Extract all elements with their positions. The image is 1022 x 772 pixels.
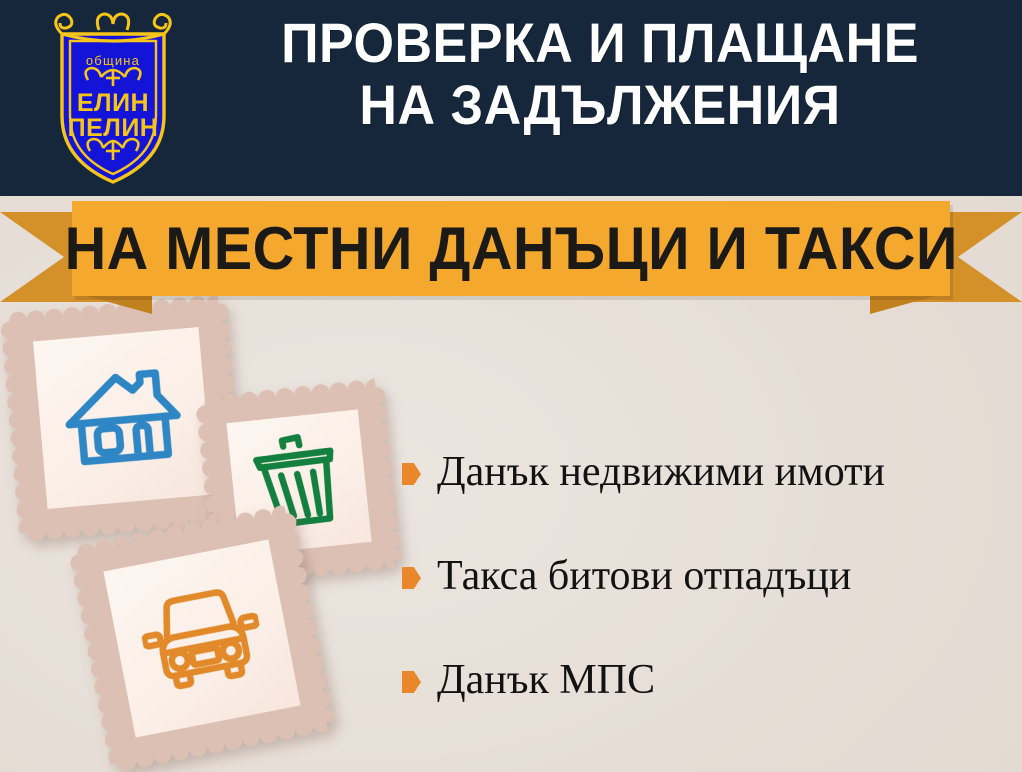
header-banner: община ЕЛИН ПЕЛИН (0, 0, 1022, 196)
list-item-label: Такса битови отпадъци (437, 554, 851, 598)
page-title-line-1: ПРОВЕРКА И ПЛАЩАНЕ (219, 16, 982, 70)
logo-line-main-1: ЕЛИН (77, 89, 149, 117)
list-item[interactable]: Данък недвижими имоти (402, 420, 1012, 524)
list-item-label: Данък МПС (437, 658, 655, 702)
arrow-right-bullet-icon (402, 567, 421, 589)
page-title: ПРОВЕРКА И ПЛАЩАНЕ НА ЗАДЪЛЖЕНИЯ (190, 16, 1010, 132)
arrow-right-bullet-icon (402, 671, 421, 693)
stamp-perforation-right (367, 387, 403, 561)
house-icon (58, 358, 187, 477)
car-front-icon (134, 576, 270, 702)
stamp-card-vehicle-tax (78, 514, 327, 764)
stamp-paper (33, 327, 213, 509)
list-item[interactable]: Данък МПС (402, 628, 1012, 732)
ribbon-label: НА МЕСТНИ ДАНЪЦИ И ТАКСИ (64, 219, 957, 279)
ribbon-band: НА МЕСТНИ ДАНЪЦИ И ТАКСИ (72, 201, 950, 296)
arrow-right-bullet-icon (402, 463, 421, 485)
list-item[interactable]: Такса битови отпадъци (402, 524, 1012, 628)
stamp-paper (103, 540, 300, 738)
subtitle-ribbon: НА МЕСТНИ ДАНЪЦИ И ТАКСИ (0, 196, 1022, 308)
logo-line-main-2: ПЕЛИН (68, 114, 159, 142)
stamp-perforation-left (0, 321, 36, 534)
municipality-logo: община ЕЛИН ПЕЛИН (44, 8, 182, 188)
list-item-label: Данък недвижими имоти (437, 450, 885, 494)
poster-canvas: община ЕЛИН ПЕЛИН (0, 0, 1022, 772)
tax-type-list: Данък недвижими имоти Такса битови отпад… (402, 420, 1012, 732)
page-title-line-2: НА ЗАДЪЛЖЕНИЯ (219, 78, 982, 132)
logo-line-top: община (86, 53, 140, 68)
